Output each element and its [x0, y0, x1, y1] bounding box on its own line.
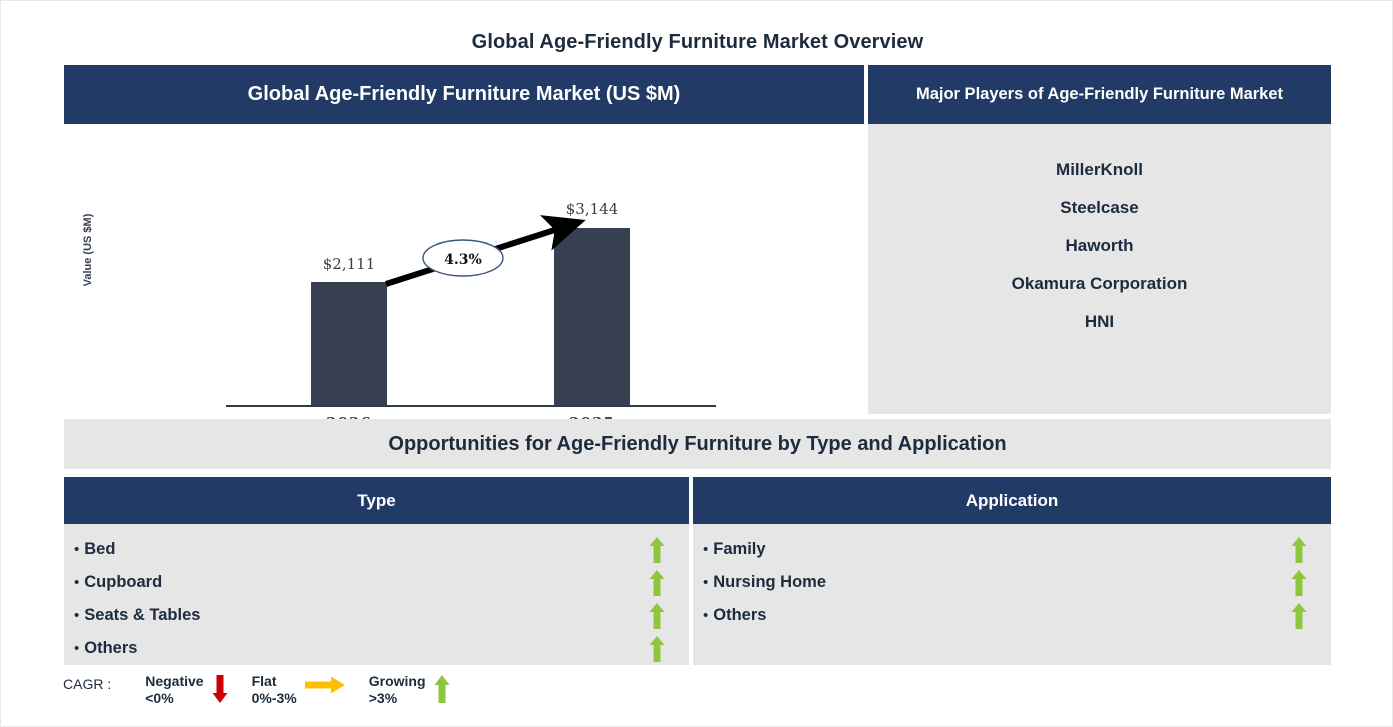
list-item: • Others: [693, 599, 1331, 632]
list-item: Okamura Corporation: [868, 256, 1331, 294]
application-column: Application • Family • Nursing Home • Ot…: [693, 477, 1331, 665]
type-list: • Bed • Cupboard • Seats & Tables: [64, 524, 689, 665]
cagr-legend: CAGR : Negative <0% Flat 0%-3% Growing >…: [63, 673, 474, 707]
bar-value-2026: $2,111: [289, 255, 409, 273]
arrow-up-green-icon: [1291, 603, 1313, 629]
type-item-label: Seats & Tables: [84, 606, 649, 625]
list-item: Steelcase: [868, 180, 1331, 218]
major-players-panel: Major Players of Age-Friendly Furniture …: [868, 65, 1331, 414]
major-players-header: Major Players of Age-Friendly Furniture …: [868, 65, 1331, 124]
application-item-label: Nursing Home: [713, 573, 1291, 592]
bar-value-2035: $3,144: [532, 200, 652, 218]
list-item: • Family: [693, 533, 1331, 566]
type-column-header: Type: [64, 477, 689, 524]
type-item-label: Cupboard: [84, 573, 649, 592]
cagr-callout: 4.3%: [64, 124, 864, 414]
bullet-icon: •: [74, 641, 79, 656]
legend-negative-range: <0%: [145, 690, 203, 707]
application-item-label: Family: [713, 540, 1291, 559]
market-chart-panel: Global Age-Friendly Furniture Market (US…: [64, 65, 864, 414]
arrow-up-green-icon: [1291, 570, 1313, 596]
market-chart-header: Global Age-Friendly Furniture Market (US…: [64, 65, 864, 124]
bullet-icon: •: [74, 608, 79, 623]
list-item: • Bed: [64, 533, 689, 566]
list-item: • Nursing Home: [693, 566, 1331, 599]
list-item: MillerKnoll: [868, 142, 1331, 180]
legend-growing-label: Growing: [369, 673, 426, 689]
list-item: • Cupboard: [64, 566, 689, 599]
legend-item-flat: Flat 0%-3%: [252, 673, 353, 707]
list-item: Haworth: [868, 218, 1331, 256]
bullet-icon: •: [703, 608, 708, 623]
arrow-up-green-icon: [649, 570, 671, 596]
infographic-page: Global Age-Friendly Furniture Market Ove…: [0, 0, 1393, 727]
chart-x-axis-line: [226, 405, 716, 407]
arrow-up-green-icon: [434, 675, 450, 703]
cagr-value-text: 4.3%: [444, 252, 482, 268]
list-item: • Others: [64, 632, 689, 665]
arrow-up-green-icon: [649, 537, 671, 563]
legend-item-growing: Growing >3%: [369, 673, 458, 707]
type-item-label: Others: [84, 639, 649, 658]
chart-y-axis-label: Value (US $M): [82, 190, 94, 310]
bullet-icon: •: [74, 542, 79, 557]
arrow-up-green-icon: [1291, 537, 1313, 563]
type-column: Type • Bed • Cupboard • Seats & Tables: [64, 477, 689, 665]
legend-negative-label: Negative: [145, 673, 203, 689]
application-item-label: Others: [713, 606, 1291, 625]
bar-2026: [311, 282, 387, 405]
application-list: • Family • Nursing Home • Others: [693, 524, 1331, 632]
cagr-legend-title: CAGR :: [63, 673, 111, 692]
page-title: Global Age-Friendly Furniture Market Ove…: [1, 31, 1393, 54]
bullet-icon: •: [74, 575, 79, 590]
bullet-icon: •: [703, 542, 708, 557]
list-item: • Seats & Tables: [64, 599, 689, 632]
application-column-header: Application: [693, 477, 1331, 524]
arrow-down-red-icon: [212, 675, 228, 703]
arrow-right-yellow-icon: [305, 675, 345, 695]
bullet-icon: •: [703, 575, 708, 590]
type-item-label: Bed: [84, 540, 649, 559]
legend-growing-range: >3%: [369, 690, 426, 707]
major-players-list: MillerKnoll Steelcase Haworth Okamura Co…: [868, 124, 1331, 414]
arrow-up-green-icon: [649, 636, 671, 662]
opportunities-band-title: Opportunities for Age-Friendly Furniture…: [64, 419, 1331, 469]
legend-flat-label: Flat: [252, 673, 277, 689]
market-chart-body: Value (US $M) $2,111 $3,144 2026 2035 4.…: [64, 124, 864, 414]
list-item: HNI: [868, 294, 1331, 332]
bar-2035: [554, 228, 630, 405]
legend-item-negative: Negative <0%: [145, 673, 235, 707]
legend-flat-range: 0%-3%: [252, 690, 297, 707]
arrow-up-green-icon: [649, 603, 671, 629]
